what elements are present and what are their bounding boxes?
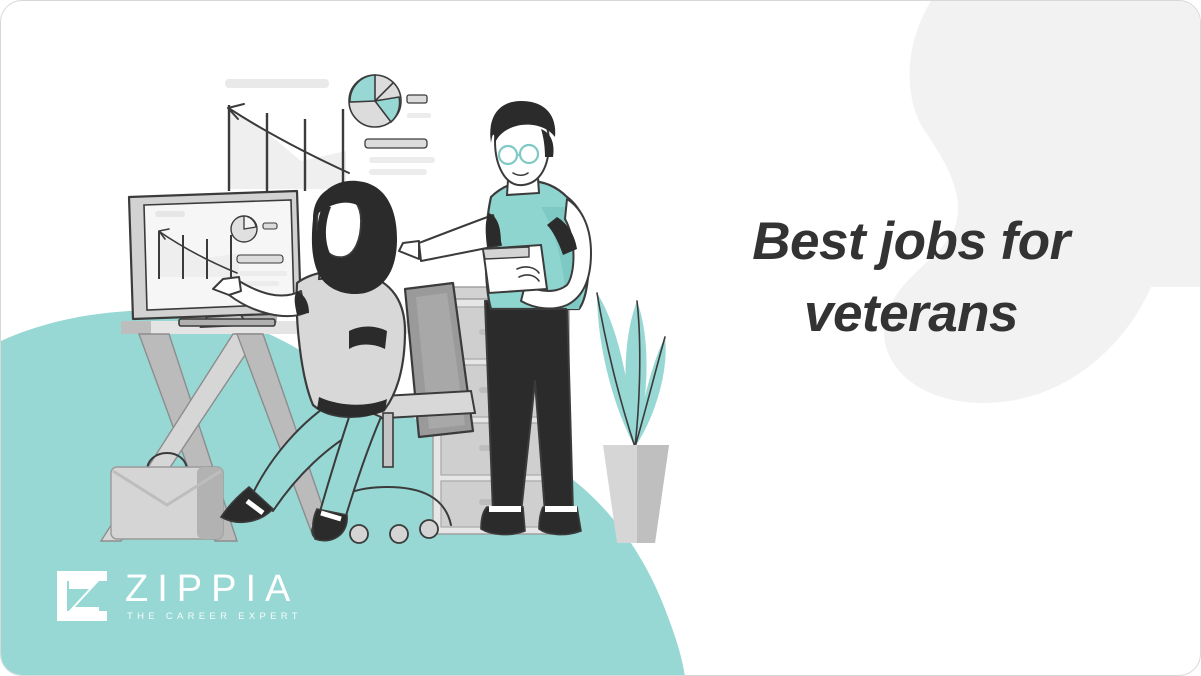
- zippia-logo[interactable]: ZIPPIA THE CAREER EXPERT: [53, 567, 302, 625]
- promo-card: .ol{fill:none;stroke:#3b3b3b;stroke-widt…: [0, 0, 1201, 676]
- logo-tagline: THE CAREER EXPERT: [125, 611, 302, 622]
- logo-wordmark: ZIPPIA: [125, 570, 302, 610]
- background-line-chart: [225, 79, 349, 191]
- zippia-z-monogram-icon: [53, 567, 111, 625]
- background-pie-chart: [349, 75, 435, 175]
- page-title: Best jobs for veterans: [701, 206, 1121, 349]
- potted-plant: [597, 293, 669, 543]
- logo-text-block: ZIPPIA THE CAREER EXPERT: [125, 570, 302, 622]
